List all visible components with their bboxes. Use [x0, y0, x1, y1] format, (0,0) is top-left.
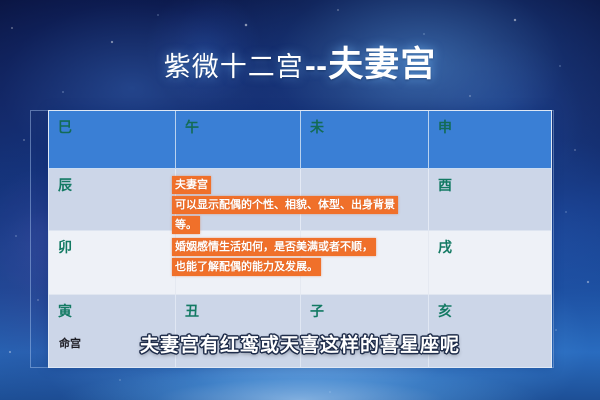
branch-label: 亥	[438, 301, 452, 321]
board-cell-si[interactable]: 巳	[49, 111, 176, 169]
branch-label: 申	[438, 117, 452, 137]
board-cell-mao[interactable]: 卯	[49, 231, 176, 295]
board-cell-center-left-upper[interactable]	[176, 169, 301, 231]
branch-label: 辰	[58, 175, 72, 195]
page-title-prefix: 紫微十二宫	[164, 52, 304, 83]
branch-label: 酉	[438, 175, 452, 195]
page-title-highlight: 夫妻宫	[328, 45, 436, 85]
branch-label: 戌	[438, 237, 452, 257]
subtitle-caption: 夫妻宫有红鸾或天喜这样的喜星座呢	[0, 330, 600, 357]
board-cell-center-right-lower[interactable]	[301, 231, 429, 295]
branch-label: 子	[310, 301, 324, 321]
screenshot-root: 紫微十二宫--夫妻宫 巳 午 未 申 辰 酉	[0, 0, 600, 400]
page-title: 紫微十二宫--夫妻宫	[0, 36, 600, 87]
branch-label: 午	[185, 117, 199, 137]
branch-label: 寅	[58, 301, 72, 321]
board-cell-shen[interactable]: 申	[429, 111, 551, 169]
board-cell-chen[interactable]: 辰	[49, 169, 176, 231]
board-cell-wei[interactable]: 未	[301, 111, 429, 169]
branch-label: 丑	[185, 301, 199, 321]
branch-label: 未	[310, 117, 324, 137]
board-cell-wu[interactable]: 午	[176, 111, 301, 169]
branch-label: 巳	[58, 117, 72, 137]
branch-label: 卯	[58, 237, 72, 257]
board-cell-center-right-upper[interactable]	[301, 169, 429, 231]
board-cell-xu[interactable]: 戌	[429, 231, 551, 295]
board-cell-center-left-lower[interactable]	[176, 231, 301, 295]
board-cell-you[interactable]: 酉	[429, 169, 551, 231]
page-title-separator: --	[305, 52, 327, 83]
